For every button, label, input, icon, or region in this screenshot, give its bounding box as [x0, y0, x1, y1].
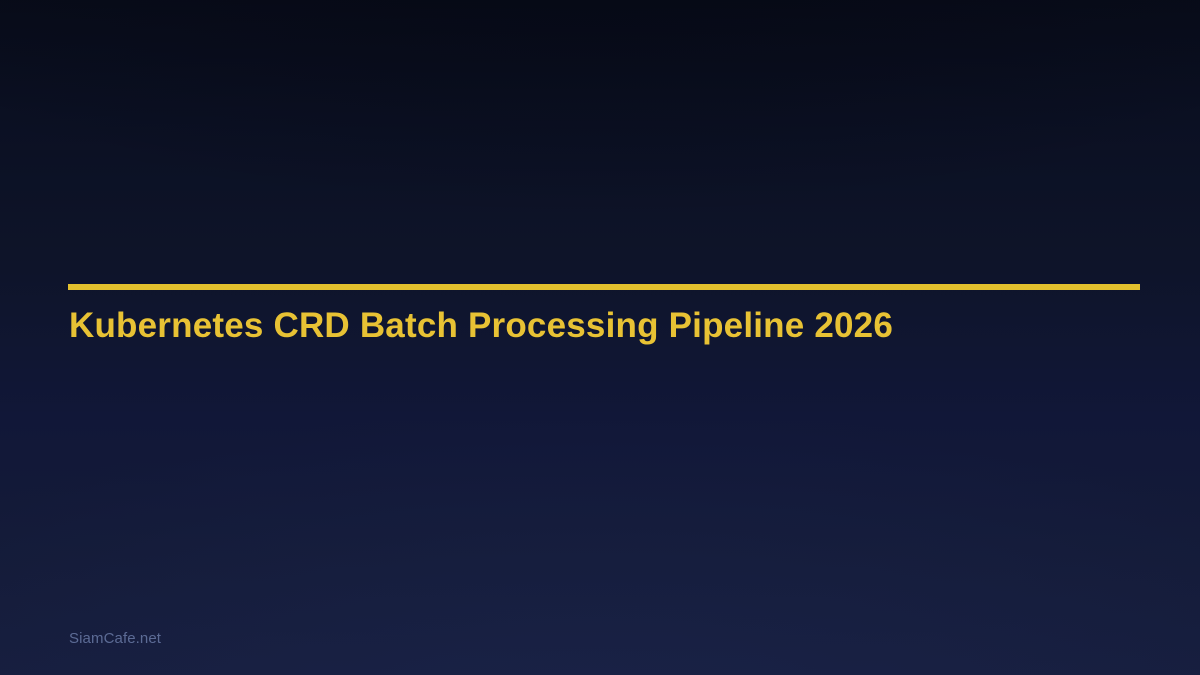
title-slide: Kubernetes CRD Batch Processing Pipeline… [0, 0, 1200, 675]
title-block: Kubernetes CRD Batch Processing Pipeline… [68, 284, 1140, 290]
footer-branding: SiamCafe.net [69, 630, 161, 648]
slide-title: Kubernetes CRD Batch Processing Pipeline… [69, 305, 893, 346]
accent-bar [68, 284, 1140, 290]
